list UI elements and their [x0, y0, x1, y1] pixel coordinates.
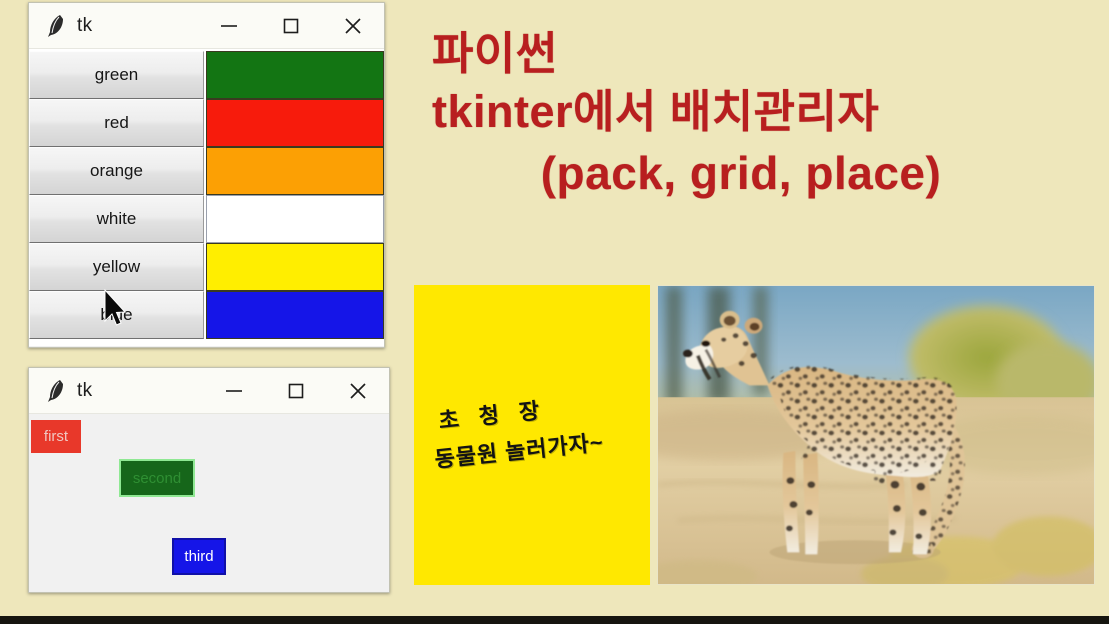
maximize-icon[interactable]	[265, 369, 327, 413]
color-button-orange[interactable]: orange	[29, 147, 204, 195]
pack-row: orange	[29, 147, 384, 195]
color-swatch-yellow	[206, 243, 384, 291]
tk-window-pack-demo[interactable]: tk green red	[28, 2, 385, 348]
color-button-yellow[interactable]: yellow	[29, 243, 204, 291]
window-controls	[198, 3, 384, 48]
close-icon[interactable]	[322, 4, 384, 48]
pack-row: yellow	[29, 243, 384, 291]
pack-demo-body: green red orange white yellow blue	[29, 49, 384, 346]
feather-icon	[45, 13, 67, 39]
feather-icon	[45, 378, 67, 404]
window-title: tk	[77, 380, 92, 402]
letterbox-bar	[0, 616, 1109, 624]
color-swatch-blue	[206, 291, 384, 339]
screen: tk green red	[0, 0, 1109, 624]
pack-row: white	[29, 195, 384, 243]
maximize-icon[interactable]	[260, 4, 322, 48]
place-label-third: third	[172, 538, 226, 575]
pack-row: blue	[29, 291, 384, 339]
color-swatch-green	[206, 51, 384, 99]
window-title: tk	[77, 15, 92, 37]
close-icon[interactable]	[327, 369, 389, 413]
pack-row: red	[29, 99, 384, 147]
minimize-icon[interactable]	[198, 4, 260, 48]
place-demo-body: first second third	[29, 414, 389, 591]
slide-title: 파이썬 tkinter에서 배치관리자 (pack, grid, place)	[432, 26, 1092, 204]
color-swatch-red	[206, 99, 384, 147]
color-button-white[interactable]: white	[29, 195, 204, 243]
place-label-first: first	[31, 420, 81, 453]
window-controls	[203, 368, 389, 413]
color-button-red[interactable]: red	[29, 99, 204, 147]
invitation-card: 초 청 장 동물원 놀러가자~	[414, 285, 650, 585]
pack-row: green	[29, 51, 384, 99]
place-label-second: second	[119, 459, 195, 497]
invitation-text: 초 청 장 동물원 놀러가자~	[429, 382, 650, 474]
titlebar[interactable]: tk	[29, 3, 384, 49]
color-swatch-orange	[206, 147, 384, 195]
title-line-2: tkinter에서 배치관리자	[432, 82, 1092, 142]
minimize-icon[interactable]	[203, 369, 265, 413]
title-line-3: (pack, grid, place)	[432, 142, 1092, 204]
color-button-blue[interactable]: blue	[29, 291, 204, 339]
tk-window-place-demo[interactable]: tk first second third	[28, 367, 390, 593]
cheetah-illustration	[658, 286, 1094, 584]
color-button-green[interactable]: green	[29, 51, 204, 99]
titlebar[interactable]: tk	[29, 368, 389, 414]
cheetah-photo	[657, 285, 1095, 585]
title-line-1: 파이썬	[432, 26, 1092, 82]
color-swatch-white	[206, 195, 384, 243]
